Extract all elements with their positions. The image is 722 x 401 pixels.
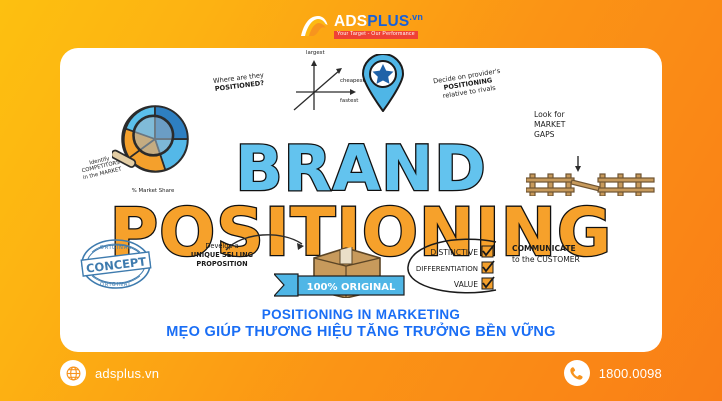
svg-text:DISTINCTIVE: DISTINCTIVE <box>430 248 478 257</box>
fence-gap-icon <box>526 156 656 196</box>
axis-label-fastest: fastest <box>340 98 358 104</box>
axis-label-largest: largest <box>306 50 325 56</box>
logo-word-tld: .vn <box>409 12 423 22</box>
logo-word-plus: PLUS <box>367 13 409 30</box>
logo-word-ads: ADS <box>334 13 367 30</box>
annotation-decide-positioning: Decide on provider's POSITIONING relativ… <box>407 63 529 106</box>
footer-bar: adsplus.vn 1800.0098 <box>60 356 662 390</box>
adsplus-logo[interactable]: ADSPLUS.vn Your Target - Our Performance <box>299 13 423 39</box>
annotation-where-positioned: Where are they POSITIONED? <box>185 68 292 97</box>
location-pin-star-icon <box>360 54 406 112</box>
annotation-communicate-customer: COMMUNICATE to the CUSTOMER <box>512 244 580 265</box>
svg-text:ORIGINAL: ORIGINAL <box>100 245 132 251</box>
scatter-axes-icon <box>288 54 360 116</box>
original-concept-stamp-icon: CONCEPT ORIGINAL ORIGINAL <box>78 236 154 292</box>
brand-positioning-infographic: BRAND POSITIONING Identify COMPETITORS i… <box>60 48 662 300</box>
checklist-icon: DISTINCTIVE DIFFERENTIATION VALUE <box>398 238 508 296</box>
annotation-market-share: % Market Share <box>108 188 198 194</box>
logo-text: ADSPLUS.vn Your Target - Our Performance <box>334 13 423 39</box>
original-banner-icon: 100% ORIGINAL <box>274 270 406 300</box>
footer-website-text: adsplus.vn <box>95 366 159 381</box>
phone-icon <box>564 360 590 386</box>
svg-text:DIFFERENTIATION: DIFFERENTIATION <box>416 265 478 273</box>
footer-phone-text: 1800.0098 <box>599 366 662 381</box>
adsplus-swoosh-icon <box>299 14 329 38</box>
svg-text:VALUE: VALUE <box>454 280 478 289</box>
brand-header: ADSPLUS.vn Your Target - Our Performance <box>0 10 722 42</box>
globe-icon <box>60 360 86 386</box>
footer-website[interactable]: adsplus.vn <box>60 360 159 386</box>
caption-line-2: MẸO GIÚP THƯƠNG HIỆU TĂNG TRƯỞNG BỀN VỮN… <box>60 323 662 342</box>
annotation-market-gaps: Look for MARKET GAPS <box>534 110 565 140</box>
caption-line-1: POSITIONING IN MARKETING <box>60 306 662 323</box>
content-card: BRAND POSITIONING Identify COMPETITORS i… <box>60 48 662 352</box>
logo-wordmark: ADSPLUS.vn <box>334 13 423 30</box>
svg-text:100% ORIGINAL: 100% ORIGINAL <box>307 282 396 293</box>
footer-phone[interactable]: 1800.0098 <box>564 360 662 386</box>
caption-block: POSITIONING IN MARKETING MẸO GIÚP THƯƠNG… <box>60 306 662 342</box>
curved-arrow-icon <box>224 230 310 256</box>
logo-tagline: Your Target - Our Performance <box>334 31 418 39</box>
svg-text:ORIGINAL: ORIGINAL <box>100 282 132 288</box>
